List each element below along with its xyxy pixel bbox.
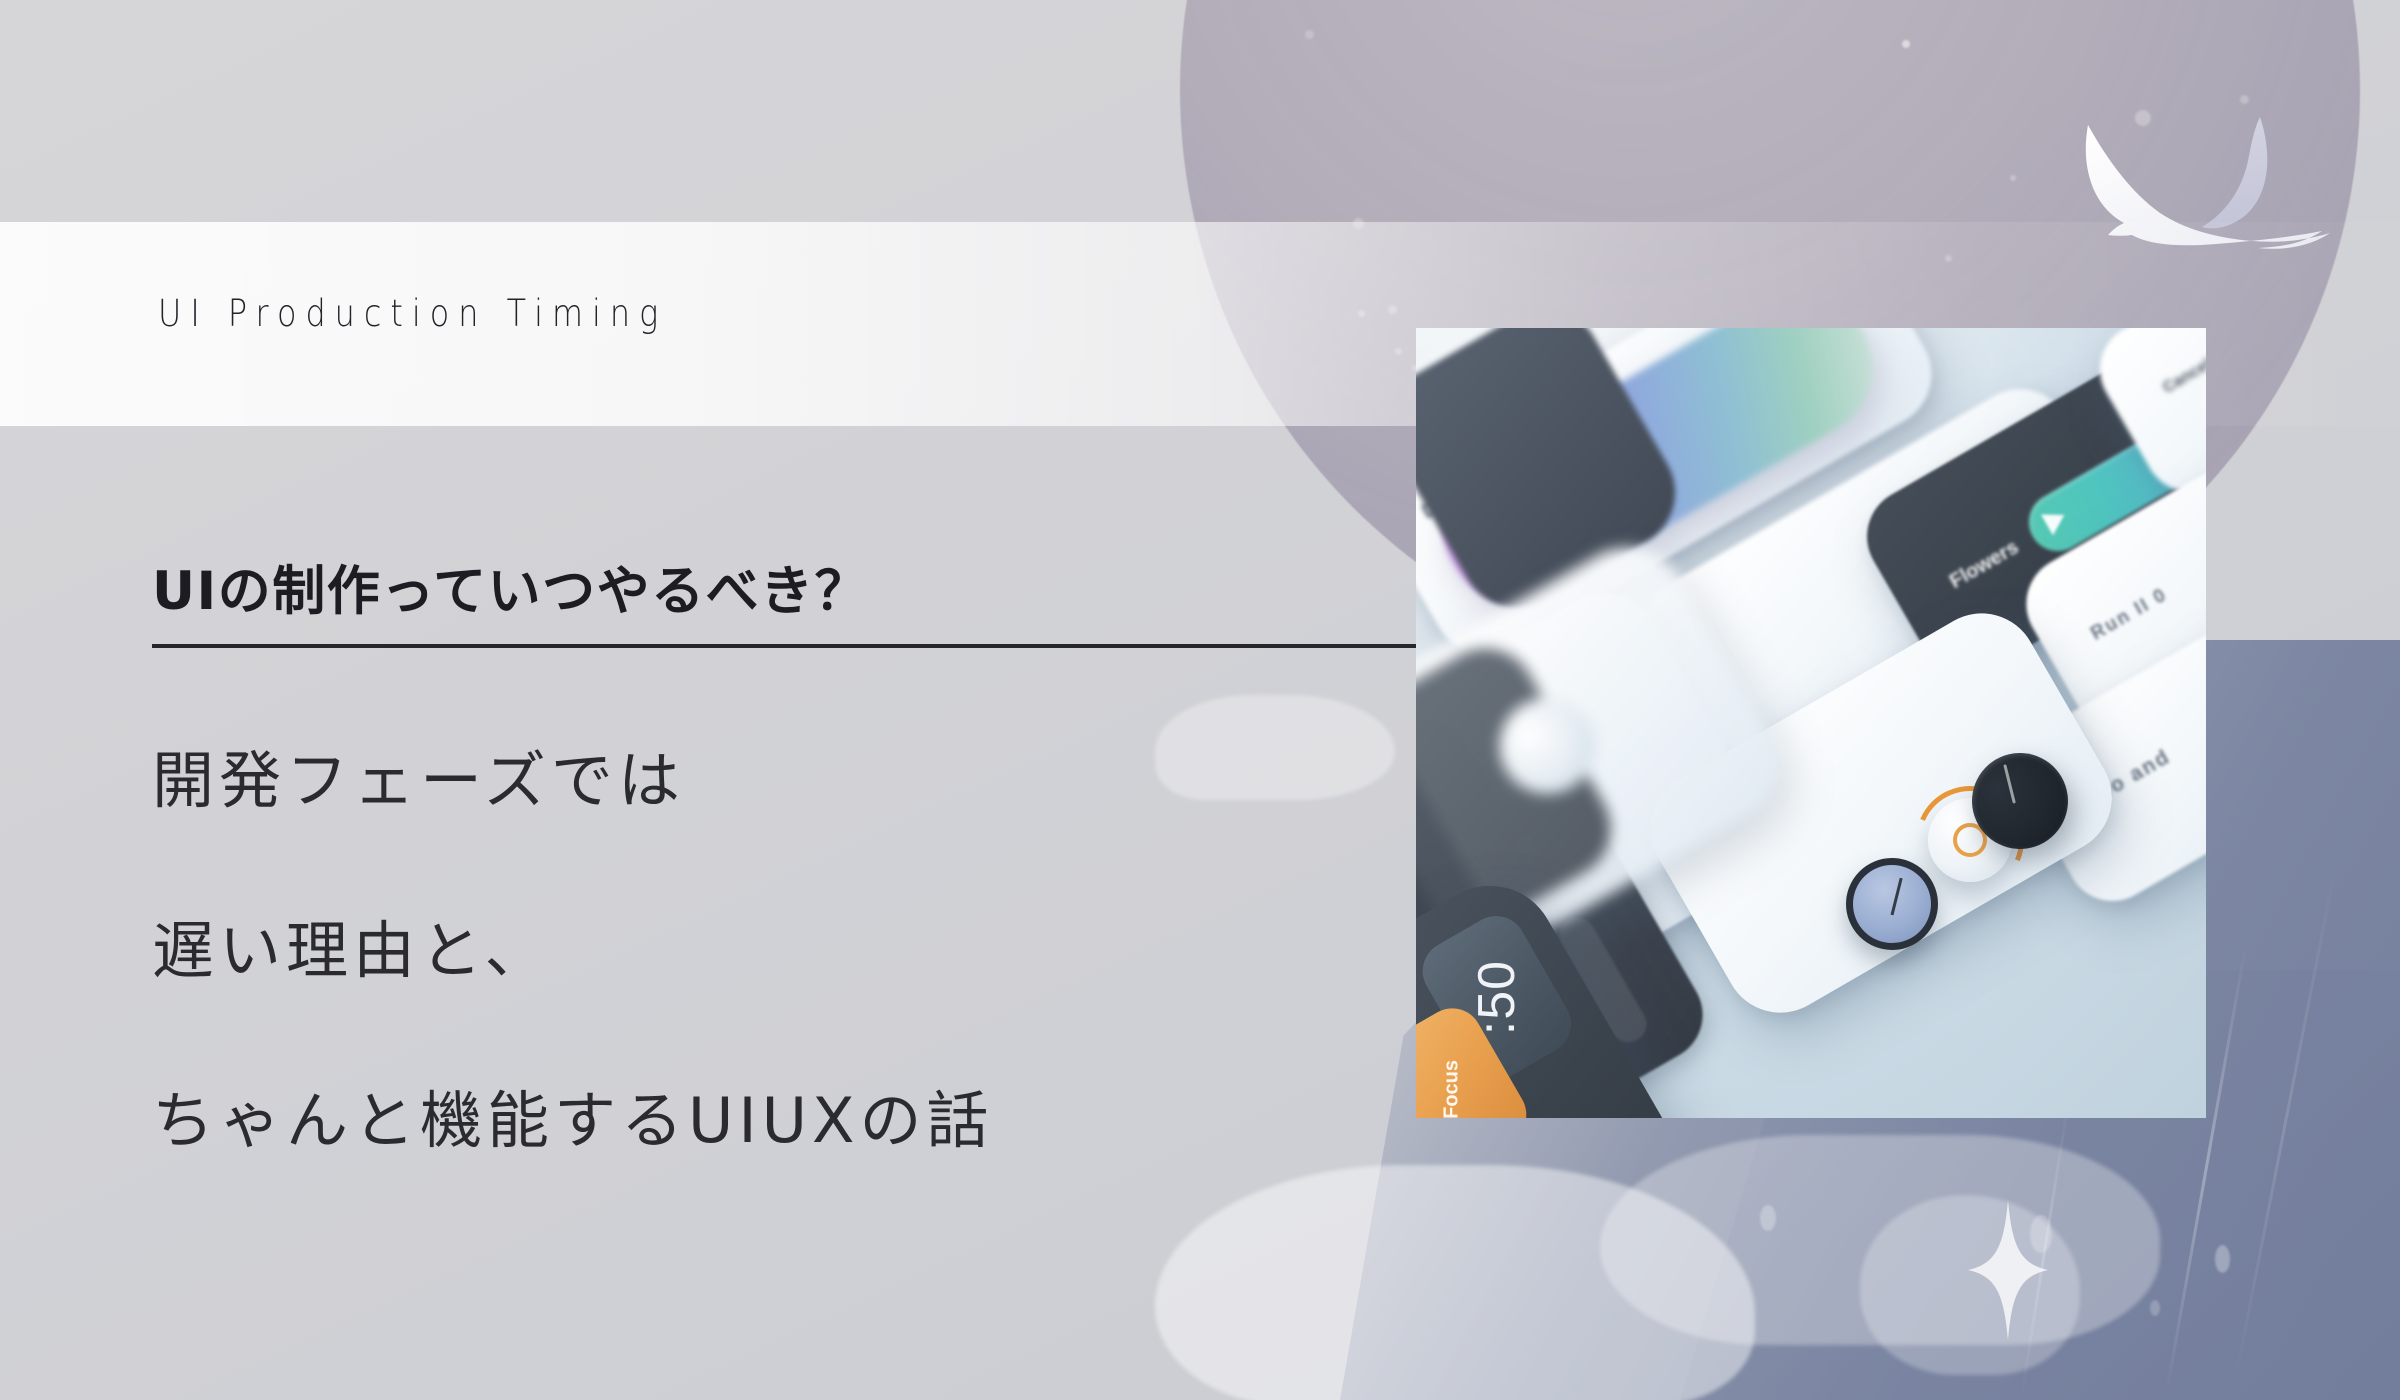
page-title: UIの制作っていつやるべき？ [152,549,869,625]
bokeh-dot [1305,30,1314,39]
title-underline-rule [152,644,1622,648]
slide-canvas: UI Production Timing UIの制作っていつやるべき？ 開発フェ… [0,0,2400,1400]
bokeh-dot [2150,1300,2160,1316]
widget-focus-label: Focus [1440,1060,1463,1118]
widget-label-run: Run II 0 [2087,584,2171,645]
bokeh-dot [1353,218,1364,229]
bokeh-dot [2215,1245,2230,1273]
bokeh-dot [1395,348,1402,355]
bokeh-dot [1358,310,1365,317]
bokeh-dot [2030,1215,2052,1253]
widget-label-corner: Cancel [2160,356,2206,398]
bokeh-dot [1902,40,1910,48]
cloud-shape [1155,695,1395,800]
bokeh-dot [2010,175,2016,181]
body-line-3: ちゃんと機能するUIUXの話 [152,1070,994,1160]
body-line-2: 遅い理由と、 [152,900,552,990]
bokeh-dot [1760,1205,1776,1231]
bird-icon [2020,95,2380,275]
body-line-1: 開発フェーズでは [152,730,685,820]
bokeh-dot [1388,305,1397,314]
widget-gauge-dial [1846,858,1938,950]
hero-image: Digits normal flow Run light Dismissed [1416,328,2206,1118]
bokeh-dot [1945,255,1952,262]
widget-label-flowers: Flowers [1946,536,2023,594]
eyebrow-label: UI Production Timing [158,292,667,335]
